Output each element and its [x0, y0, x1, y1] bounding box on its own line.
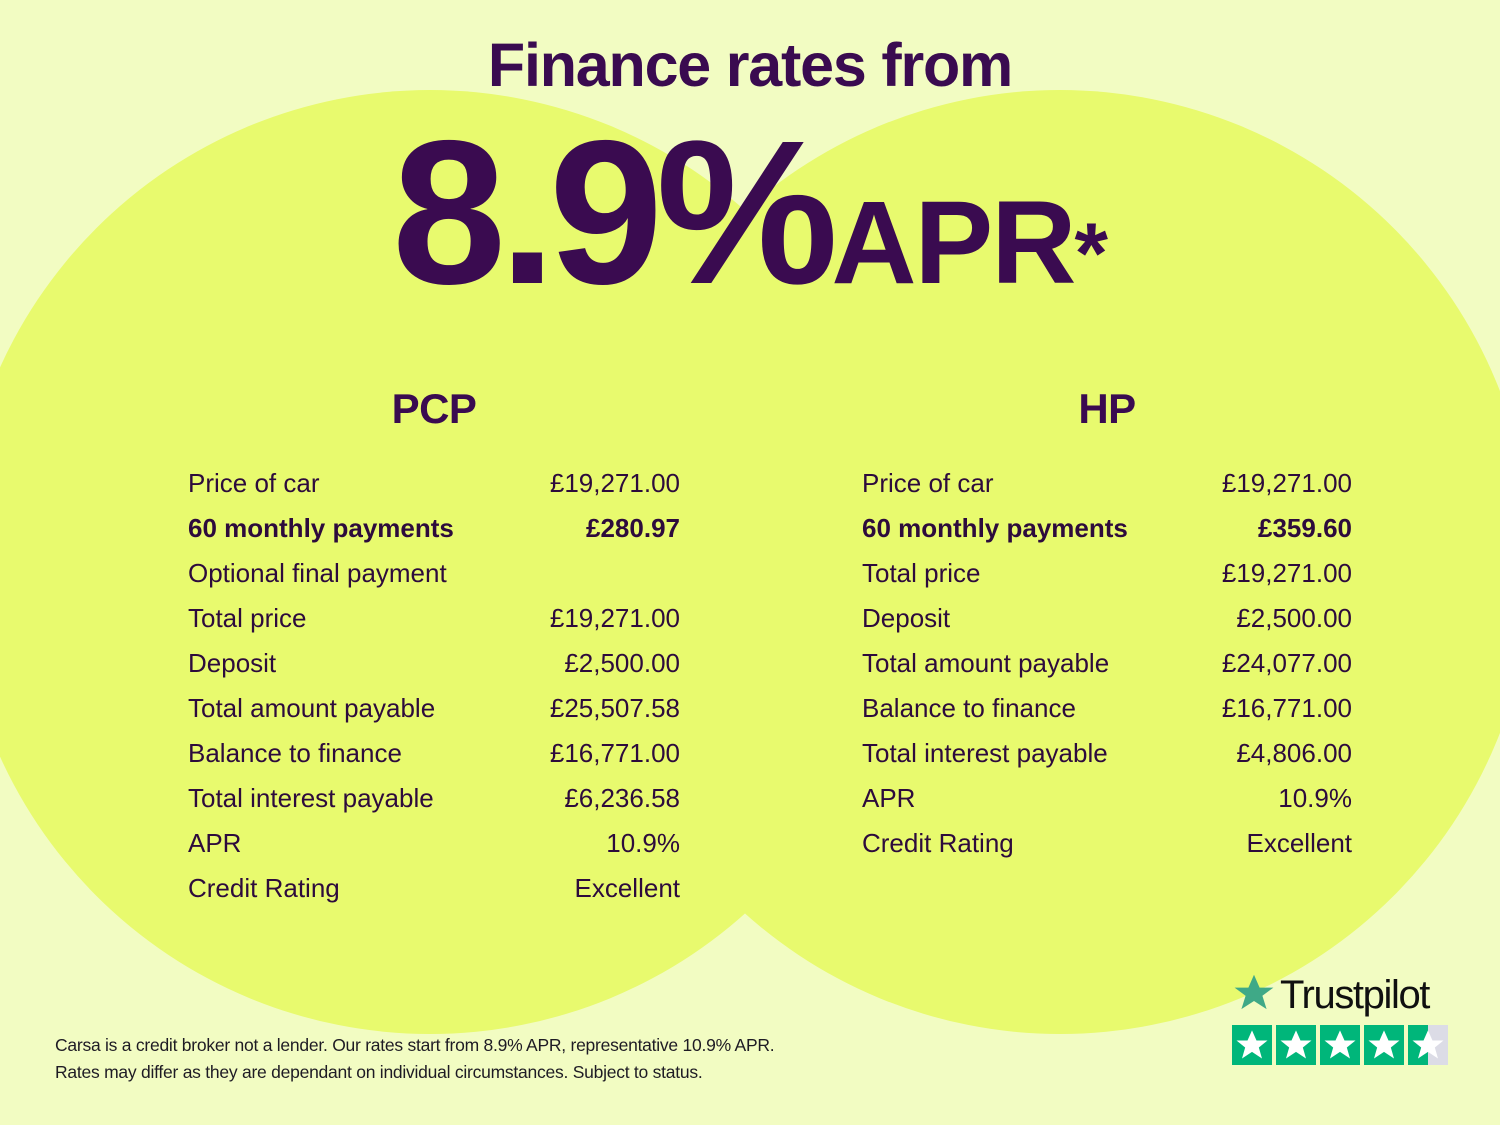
- table-row: Credit Rating Excellent: [862, 828, 1352, 873]
- row-value: £25,507.58: [550, 693, 680, 724]
- row-value: Excellent: [575, 873, 681, 904]
- trustpilot-logo: Trustpilot: [1232, 972, 1454, 1018]
- row-value: £19,271.00: [550, 603, 680, 634]
- row-value: £6,236.58: [564, 783, 680, 814]
- table-row: Total amount payable £24,077.00: [862, 648, 1352, 693]
- row-value: £16,771.00: [550, 738, 680, 769]
- finance-plan-pcp: PCP Price of car £19,271.00 60 monthly p…: [188, 388, 680, 918]
- row-label: 60 monthly payments: [862, 513, 1128, 544]
- row-value: £2,500.00: [1236, 603, 1352, 634]
- disclaimer: Carsa is a credit broker not a lender. O…: [55, 1032, 875, 1086]
- row-value: Excellent: [1247, 828, 1353, 859]
- row-label: 60 monthly payments: [188, 513, 454, 544]
- rating-star-2: [1276, 1025, 1316, 1065]
- rating-star-3: [1320, 1025, 1360, 1065]
- row-value: £19,271.00: [550, 468, 680, 499]
- row-label: Optional final payment: [188, 558, 447, 589]
- table-row: Optional final payment: [188, 558, 680, 603]
- row-label: Total price: [188, 603, 307, 634]
- table-row: APR 10.9%: [188, 828, 680, 873]
- trustpilot-star-icon: [1232, 972, 1276, 1019]
- plan-title-pcp: PCP: [188, 388, 680, 430]
- table-row: Credit Rating Excellent: [188, 873, 680, 918]
- row-label: Credit Rating: [862, 828, 1014, 859]
- row-label: APR: [188, 828, 241, 859]
- content-layer: Finance rates from 8.9%APR* PCP Price of…: [0, 0, 1500, 1125]
- row-label: Total amount payable: [188, 693, 435, 724]
- table-row: Total price £19,271.00: [188, 603, 680, 648]
- disclaimer-line-2: Rates may differ as they are dependant o…: [55, 1059, 875, 1086]
- table-row: 60 monthly payments £359.60: [862, 513, 1352, 558]
- row-value: £16,771.00: [1222, 693, 1352, 724]
- row-label: APR: [862, 783, 915, 814]
- rating-star-1: [1232, 1025, 1272, 1065]
- row-label: Deposit: [862, 603, 950, 634]
- table-row: Balance to finance £16,771.00: [188, 738, 680, 783]
- row-value: 10.9%: [606, 828, 680, 859]
- trustpilot-rating-stars: [1232, 1025, 1454, 1065]
- row-label: Balance to finance: [862, 693, 1076, 724]
- page-title: Finance rates from: [0, 35, 1500, 96]
- rating-star-4: [1364, 1025, 1404, 1065]
- table-row: Total interest payable £6,236.58: [188, 783, 680, 828]
- row-label: Price of car: [862, 468, 994, 499]
- table-row: Deposit £2,500.00: [862, 603, 1352, 648]
- row-value: £4,806.00: [1236, 738, 1352, 769]
- table-row: Total amount payable £25,507.58: [188, 693, 680, 738]
- disclaimer-line-1: Carsa is a credit broker not a lender. O…: [55, 1032, 875, 1059]
- row-value: £19,271.00: [1222, 468, 1352, 499]
- trustpilot-wordmark-text: Trustpilot: [1280, 975, 1429, 1015]
- row-label: Credit Rating: [188, 873, 340, 904]
- table-row: Deposit £2,500.00: [188, 648, 680, 693]
- table-row: Price of car £19,271.00: [862, 468, 1352, 513]
- table-row: Total price £19,271.00: [862, 558, 1352, 603]
- row-label: Price of car: [188, 468, 320, 499]
- row-value: £280.97: [586, 513, 680, 544]
- rating-star-5-half: [1408, 1025, 1448, 1065]
- row-value: £2,500.00: [564, 648, 680, 679]
- row-value: 10.9%: [1278, 783, 1352, 814]
- row-label: Total amount payable: [862, 648, 1109, 679]
- headline-rate-number: 8.9%: [392, 98, 831, 327]
- table-row: Price of car £19,271.00: [188, 468, 680, 513]
- row-label: Total interest payable: [188, 783, 434, 814]
- headline-rate: 8.9%APR*: [0, 110, 1500, 315]
- row-value: £19,271.00: [1222, 558, 1352, 589]
- row-label: Deposit: [188, 648, 276, 679]
- trustpilot-widget[interactable]: Trustpilot: [1232, 972, 1454, 1065]
- table-row: Balance to finance £16,771.00: [862, 693, 1352, 738]
- row-value: £24,077.00: [1222, 648, 1352, 679]
- finance-plan-hp: HP Price of car £19,271.00 60 monthly pa…: [862, 388, 1352, 873]
- row-label: Total interest payable: [862, 738, 1108, 769]
- row-label: Balance to finance: [188, 738, 402, 769]
- headline-rate-suffix: APR: [831, 177, 1074, 309]
- row-value: £359.60: [1258, 513, 1352, 544]
- table-row: 60 monthly payments £280.97: [188, 513, 680, 558]
- headline-rate-asterisk: *: [1074, 206, 1107, 302]
- plan-title-hp: HP: [862, 388, 1352, 430]
- table-row: APR 10.9%: [862, 783, 1352, 828]
- table-row: Total interest payable £4,806.00: [862, 738, 1352, 783]
- promo-banner: Finance rates from 8.9%APR* PCP Price of…: [0, 0, 1500, 1125]
- row-label: Total price: [862, 558, 981, 589]
